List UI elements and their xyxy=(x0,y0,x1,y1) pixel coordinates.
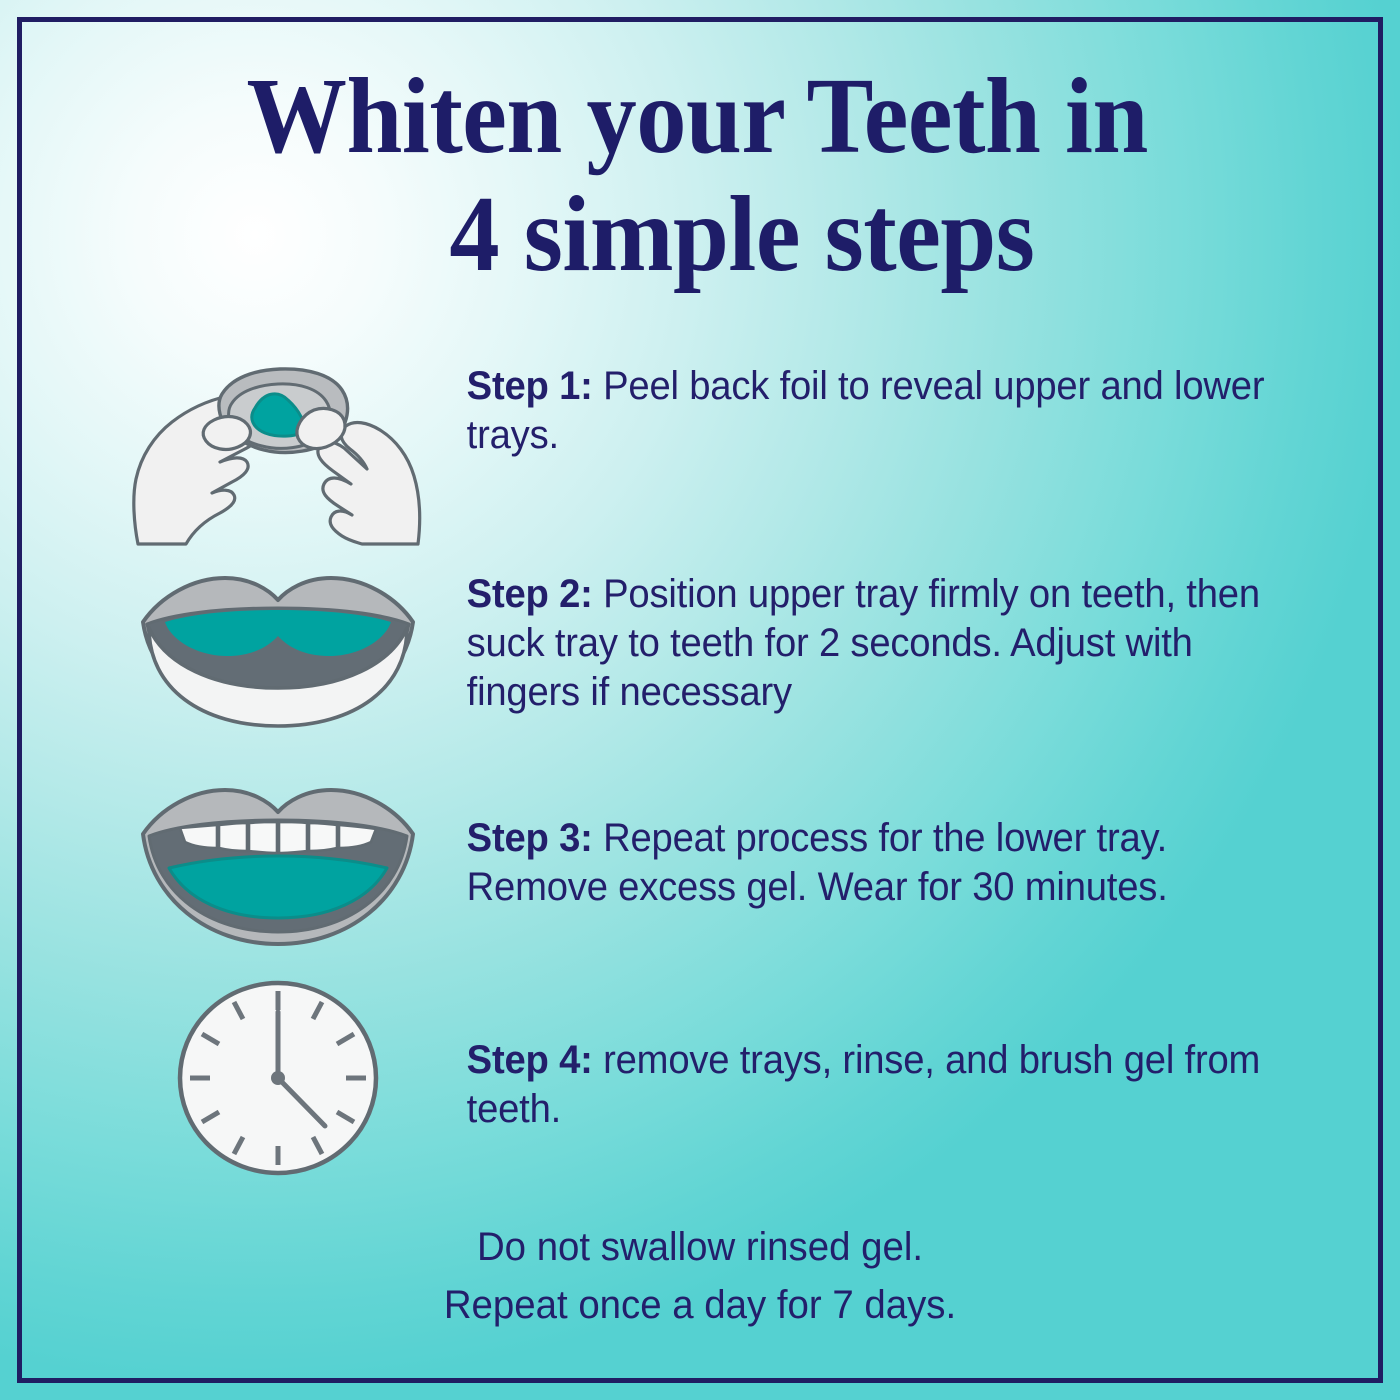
step-4-label: Step 4: xyxy=(467,1038,593,1082)
page-title: Whiten your Teeth in 4 simple steps xyxy=(0,58,1400,294)
mouth-upper-tray-icon xyxy=(133,556,423,741)
mouth-lower-tray-icon xyxy=(133,772,423,957)
title-line-2: 4 simple steps xyxy=(49,176,1351,294)
upper-teeth-row xyxy=(180,822,376,853)
step-row-2: Step 2: Position upper tray firmly on te… xyxy=(118,556,1328,741)
clock-icon xyxy=(173,978,383,1178)
step-4-illustration xyxy=(118,978,438,1178)
footer-note: Do not swallow rinsed gel. Repeat once a… xyxy=(0,1218,1400,1334)
clock-center-pin xyxy=(271,1071,285,1085)
hands-peeling-blister-pack-icon xyxy=(128,348,428,548)
step-2-label: Step 2: xyxy=(467,572,593,616)
infographic-poster: Whiten your Teeth in 4 simple steps xyxy=(0,0,1400,1400)
left-thumb xyxy=(203,417,250,450)
footer-line-1: Do not swallow rinsed gel. xyxy=(28,1218,1372,1276)
step-2-illustration xyxy=(118,556,438,741)
step-row-4: Step 4: remove trays, rinse, and brush g… xyxy=(118,978,1328,1178)
title-line-1: Whiten your Teeth in xyxy=(49,58,1351,176)
step-3-label: Step 3: xyxy=(467,816,593,860)
step-1-illustration xyxy=(118,348,438,548)
step-row-3: Step 3: Repeat process for the lower tra… xyxy=(118,772,1328,957)
step-3-illustration xyxy=(118,772,438,957)
step-row-1: Step 1: Peel back foil to reveal upper a… xyxy=(118,348,1328,548)
footer-line-2: Repeat once a day for 7 days. xyxy=(28,1276,1372,1334)
step-1-label: Step 1: xyxy=(467,364,593,408)
step-1-text: Step 1: Peel back foil to reveal upper a… xyxy=(438,348,1288,460)
step-2-text: Step 2: Position upper tray firmly on te… xyxy=(438,556,1288,717)
step-3-text: Step 3: Repeat process for the lower tra… xyxy=(438,772,1288,912)
step-4-text: Step 4: remove trays, rinse, and brush g… xyxy=(438,978,1288,1134)
